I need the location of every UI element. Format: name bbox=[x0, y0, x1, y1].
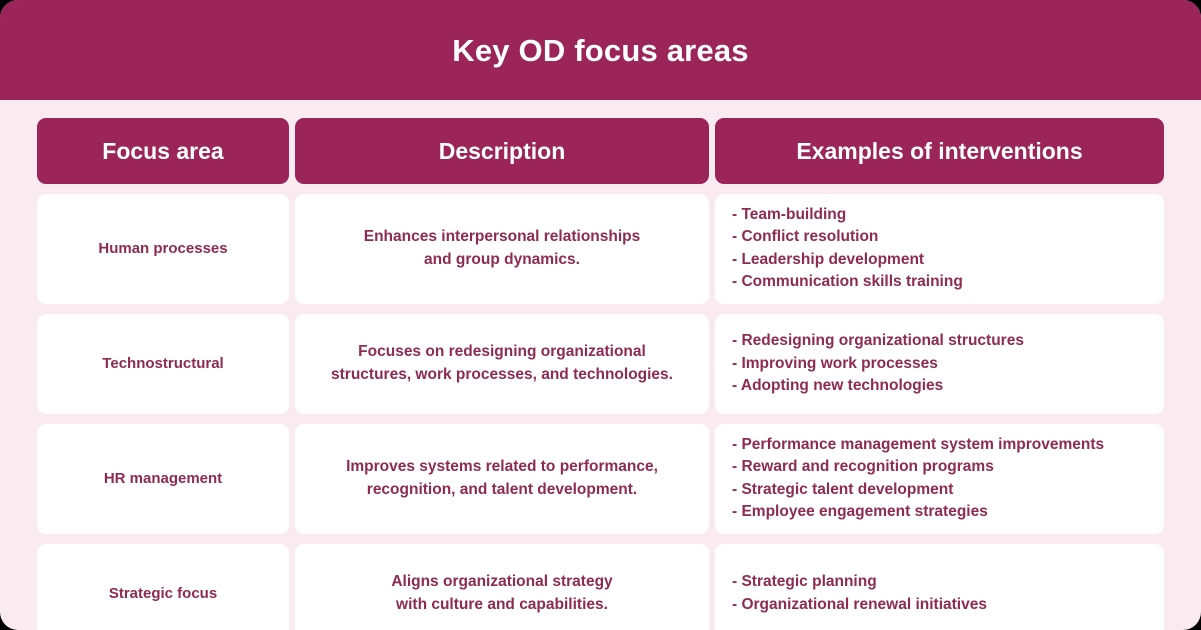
cell-description: Focuses on redesigning organizational st… bbox=[295, 314, 709, 414]
list-item: - Performance management system improvem… bbox=[732, 434, 1148, 456]
cell-description: Aligns organizational strategy with cult… bbox=[295, 544, 709, 630]
cell-interventions: - Performance management system improvem… bbox=[715, 424, 1164, 534]
cell-focus-area: Strategic focus bbox=[37, 544, 289, 630]
table-row: Technostructural Focuses on redesigning … bbox=[37, 314, 1164, 414]
cell-focus-area: Technostructural bbox=[37, 314, 289, 414]
list-item: - Conflict resolution bbox=[732, 226, 1148, 248]
interventions-list: - Redesigning organizational structures … bbox=[732, 330, 1148, 397]
table-row: Human processes Enhances interpersonal r… bbox=[37, 194, 1164, 304]
cell-focus-area: HR management bbox=[37, 424, 289, 534]
column-header-label: Description bbox=[439, 138, 566, 164]
column-header-description: Description bbox=[295, 118, 709, 184]
list-item: - Strategic planning bbox=[732, 571, 1148, 593]
cell-description: Enhances interpersonal relationships and… bbox=[295, 194, 709, 304]
list-item: - Reward and recognition programs bbox=[732, 456, 1148, 478]
page-title: Key OD focus areas bbox=[452, 35, 749, 66]
title-banner: Key OD focus areas bbox=[0, 0, 1201, 100]
column-header-focus-area: Focus area bbox=[37, 118, 289, 184]
cell-interventions: - Team-building - Conflict resolution - … bbox=[715, 194, 1164, 304]
table-row: Strategic focus Aligns organizational st… bbox=[37, 544, 1164, 630]
cell-interventions: - Strategic planning - Organizational re… bbox=[715, 544, 1164, 630]
list-item: - Employee engagement strategies bbox=[732, 501, 1148, 523]
cell-interventions: - Redesigning organizational structures … bbox=[715, 314, 1164, 414]
column-header-interventions: Examples of interventions bbox=[715, 118, 1164, 184]
focus-area-text: Strategic focus bbox=[109, 584, 217, 604]
list-item: - Team-building bbox=[732, 204, 1148, 226]
table-row: HR management Improves systems related t… bbox=[37, 424, 1164, 534]
focus-area-text: Technostructural bbox=[102, 354, 223, 374]
description-text: Aligns organizational strategy with cult… bbox=[391, 571, 612, 616]
column-header-label: Examples of interventions bbox=[796, 138, 1082, 164]
interventions-list: - Team-building - Conflict resolution - … bbox=[732, 204, 1148, 294]
focus-area-text: HR management bbox=[104, 469, 222, 489]
focus-areas-table: Focus area Description Examples of inter… bbox=[0, 100, 1201, 630]
cell-description: Improves systems related to performance,… bbox=[295, 424, 709, 534]
description-text: Improves systems related to performance,… bbox=[346, 456, 658, 501]
list-item: - Organizational renewal initiatives bbox=[732, 594, 1148, 616]
cell-focus-area: Human processes bbox=[37, 194, 289, 304]
interventions-list: - Strategic planning - Organizational re… bbox=[732, 571, 1148, 616]
list-item: - Leadership development bbox=[732, 249, 1148, 271]
list-item: - Adopting new technologies bbox=[732, 375, 1148, 397]
list-item: - Redesigning organizational structures bbox=[732, 330, 1148, 352]
list-item: - Strategic talent development bbox=[732, 479, 1148, 501]
description-text: Focuses on redesigning organizational st… bbox=[331, 341, 673, 386]
infographic-root: Key OD focus areas Focus area Descriptio… bbox=[0, 0, 1201, 630]
table-header-row: Focus area Description Examples of inter… bbox=[37, 118, 1164, 184]
focus-area-text: Human processes bbox=[98, 239, 227, 259]
list-item: - Communication skills training bbox=[732, 271, 1148, 293]
list-item: - Improving work processes bbox=[732, 353, 1148, 375]
interventions-list: - Performance management system improvem… bbox=[732, 434, 1148, 524]
column-header-label: Focus area bbox=[102, 138, 223, 164]
description-text: Enhances interpersonal relationships and… bbox=[364, 226, 641, 271]
